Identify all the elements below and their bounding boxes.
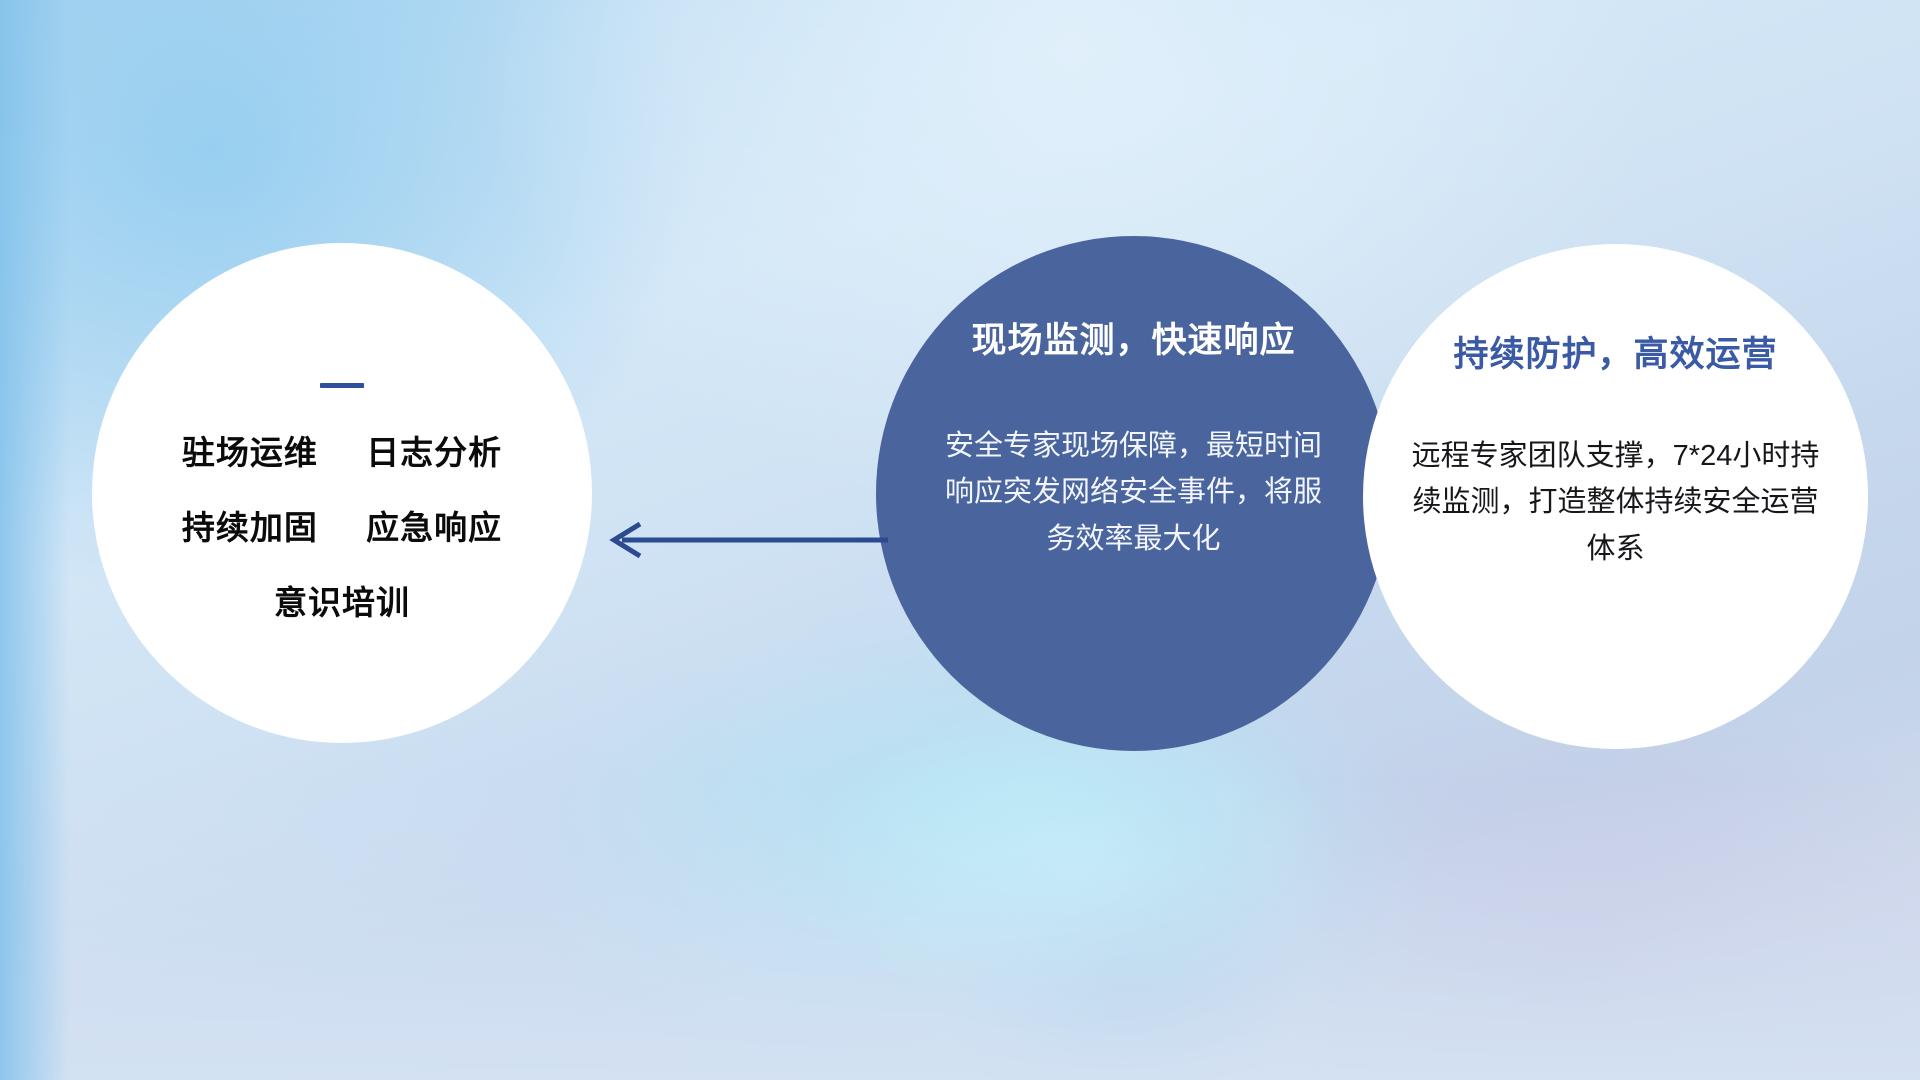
background-left-edge-wash	[0, 0, 70, 1080]
keyword-row: 意识培训	[92, 586, 592, 619]
continuous-protection-body: 远程专家团队支撑，7*24小时持续监测，打造整体持续安全运营体系	[1385, 433, 1846, 574]
onsite-monitoring-title: 现场监测，快速响应	[900, 322, 1367, 361]
leftward-flow-arrow	[600, 510, 890, 570]
keyword-row: 持续加固 应急响应	[92, 511, 592, 544]
onsite-monitoring-circle[interactable]: 现场监测，快速响应 安全专家现场保障，最短时间响应突发网络安全事件，将服务效率最…	[876, 236, 1391, 751]
keyword-label: 应急响应	[366, 509, 502, 546]
keyword-label: 日志分析	[366, 434, 502, 471]
continuous-protection-circle[interactable]: 持续防护，高效运营 远程专家团队支撑，7*24小时持续监测，打造整体持续安全运营…	[1363, 244, 1868, 749]
continuous-protection-title: 持续防护，高效运营	[1385, 336, 1846, 375]
slide-canvas: 现场监测，快速响应 安全专家现场保障，最短时间响应突发网络安全事件，将服务效率最…	[0, 0, 1920, 1080]
onsite-monitoring-body: 安全专家现场保障，最短时间响应突发网络安全事件，将服务效率最大化	[900, 423, 1367, 564]
continuous-protection-content: 持续防护，高效运营 远程专家团队支撑，7*24小时持续监测，打造整体持续安全运营…	[1385, 336, 1846, 573]
short-dash-divider-icon	[320, 383, 364, 388]
capability-keywords-content: 驻场运维 日志分析 持续加固 应急响应 意识培训	[92, 383, 592, 619]
keyword-row: 驻场运维 日志分析	[92, 436, 592, 469]
onsite-monitoring-content: 现场监测，快速响应 安全专家现场保障，最短时间响应突发网络安全事件，将服务效率最…	[900, 322, 1367, 563]
capability-keywords-circle[interactable]: 驻场运维 日志分析 持续加固 应急响应 意识培训	[92, 243, 592, 743]
keyword-label: 持续加固	[182, 509, 318, 546]
keyword-label: 驻场运维	[182, 434, 318, 471]
keyword-label: 意识培训	[274, 584, 410, 621]
background-bottom-wash	[0, 780, 1920, 1080]
